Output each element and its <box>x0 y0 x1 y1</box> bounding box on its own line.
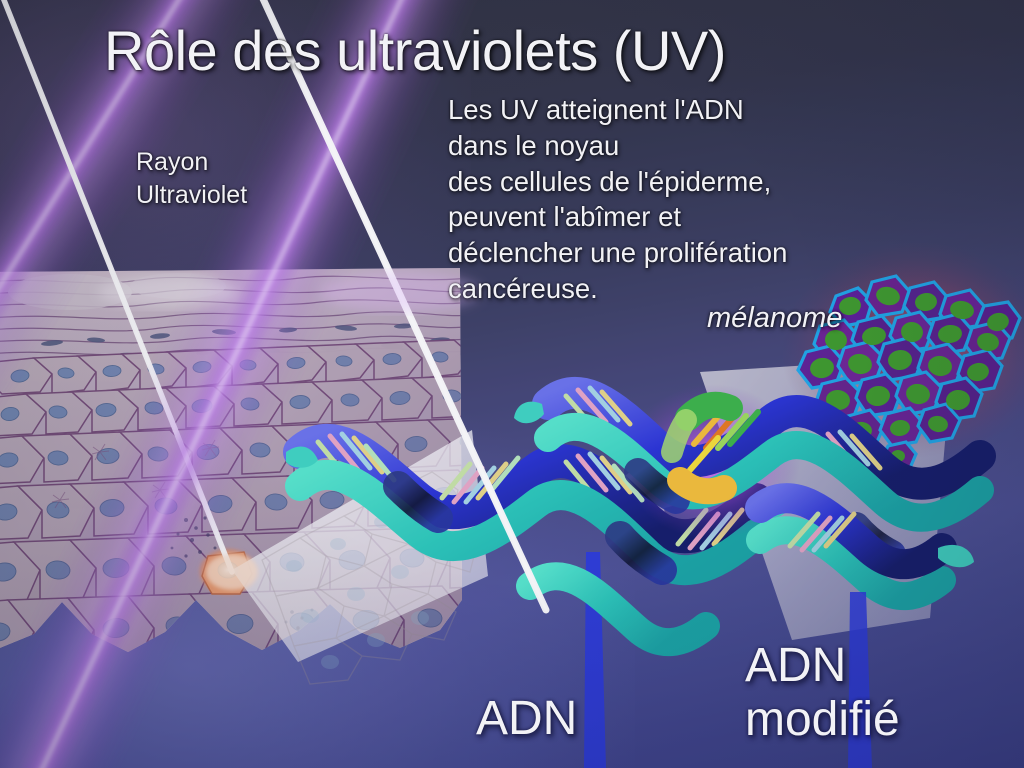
uv-ray-label: Rayon Ultraviolet <box>136 146 247 211</box>
uv-dna-infographic: Rôle des ultraviolets (UV) Les UV atteig… <box>0 0 1024 768</box>
dna-label: ADN <box>476 691 577 746</box>
page-title: Rôle des ultraviolets (UV) <box>104 18 726 83</box>
melanoma-label: mélanome <box>707 302 842 335</box>
dna-modified-label: ADN modifié <box>745 639 900 747</box>
body-text: Les UV atteignent l'ADN dans le noyau de… <box>448 92 787 307</box>
